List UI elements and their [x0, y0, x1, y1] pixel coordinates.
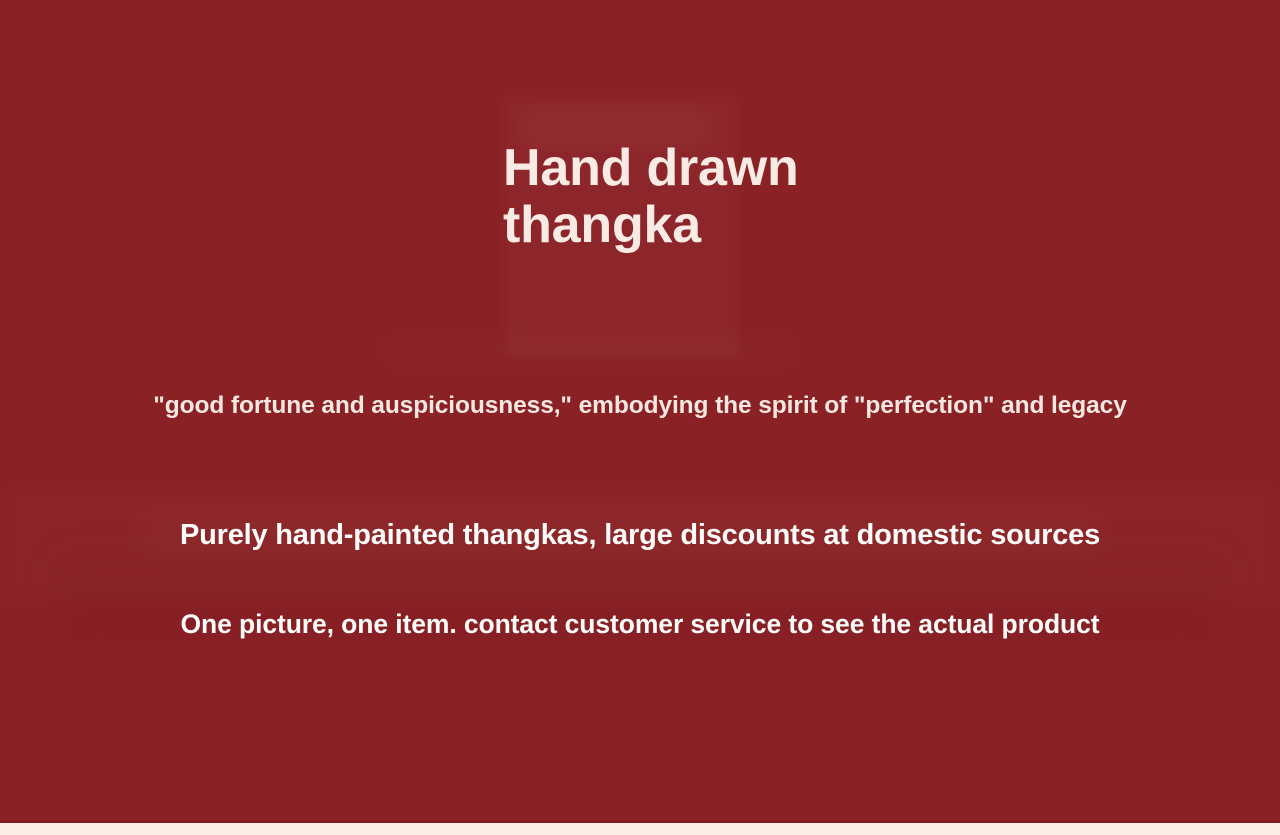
bottom-strip — [0, 823, 1280, 835]
hero-heading: Hand drawn thangka — [503, 140, 923, 254]
customer-service-text: One picture, one item. contact customer … — [0, 606, 1280, 642]
tagline-text: "good fortune and auspiciousness," embod… — [0, 389, 1280, 423]
texture-blotch-upper-band — [380, 330, 800, 370]
promo-banner: Hand drawn thangka "good fortune and aus… — [0, 0, 1280, 835]
promo-text: Purely hand-painted thangkas, large disc… — [0, 515, 1280, 555]
